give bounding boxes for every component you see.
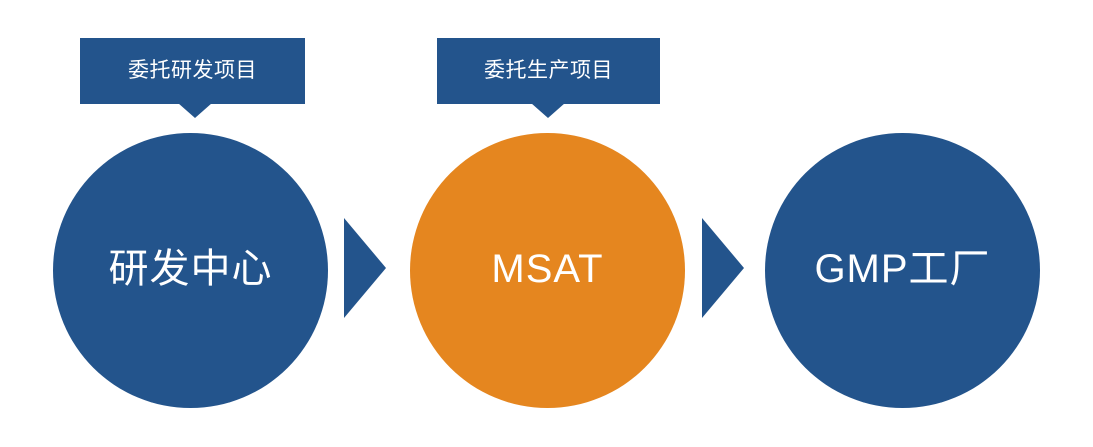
node-msat-label: MSAT [491,249,603,289]
process-flow-diagram: 委托研发项目 委托生产项目 研发中心 MSAT GMP工厂 [0,0,1093,447]
callout-entrusted-manufacturing-label: 委托生产项目 [484,60,613,81]
callout-entrusted-rd: 委托研发项目 [80,38,305,104]
callout-tail-icon [531,103,565,118]
node-rd-center-label: 研发中心 [109,249,273,289]
triangle-right-arrow-icon [344,218,386,318]
callout-entrusted-rd-label: 委托研发项目 [128,60,257,81]
node-rd-center: 研发中心 [53,133,328,408]
node-gmp-factory-label: GMP工厂 [814,249,990,289]
node-gmp-factory: GMP工厂 [765,133,1040,408]
node-msat: MSAT [410,133,685,408]
callout-tail-icon [178,103,212,118]
triangle-right-arrow-icon [702,218,744,318]
callout-entrusted-manufacturing: 委托生产项目 [437,38,660,104]
